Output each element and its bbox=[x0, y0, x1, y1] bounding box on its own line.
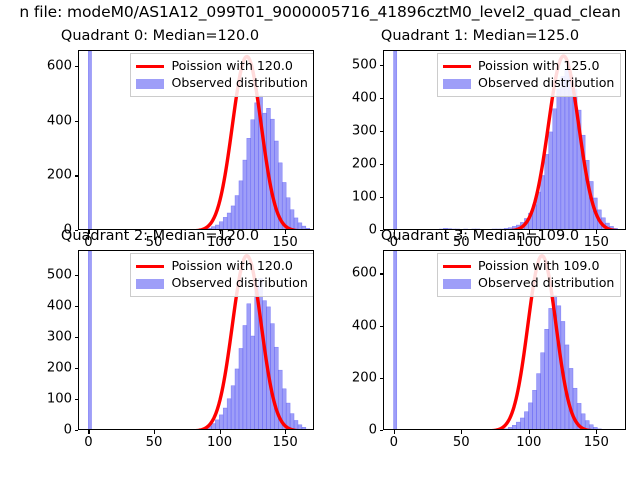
subplot-quadrant-0: Quadrant 0: Median=120.0 bbox=[0, 28, 320, 238]
axes-title-quadrant-1: Quadrant 1: Median=125.0 bbox=[381, 28, 579, 44]
subplot-quadrant-3: Quadrant 3: Median=109.0 bbox=[320, 228, 640, 443]
matplotlib-figure: n file: modeM0/AS1A12_099T01_9000005716_… bbox=[0, 0, 640, 480]
axes-title-quadrant-3: Quadrant 3: Median=109.0 bbox=[381, 228, 579, 244]
axes-title-quadrant-0: Quadrant 0: Median=120.0 bbox=[61, 28, 259, 44]
axes-title-quadrant-2: Quadrant 2: Median=120.0 bbox=[61, 228, 259, 244]
subplot-quadrant-2: Quadrant 2: Median=120.0 bbox=[0, 228, 320, 443]
figure-suptitle: n file: modeM0/AS1A12_099T01_9000005716_… bbox=[19, 3, 620, 21]
subplot-quadrant-1: Quadrant 1: Median=125.0 bbox=[320, 28, 640, 238]
